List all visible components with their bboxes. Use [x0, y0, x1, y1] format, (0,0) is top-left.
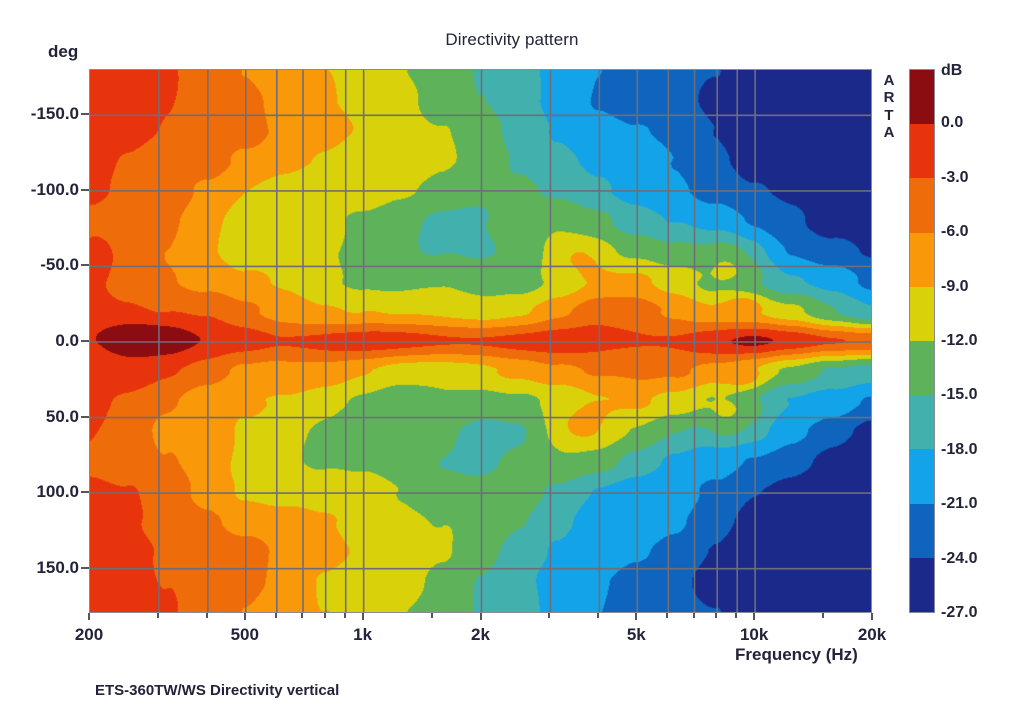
colorbar-tick-label: -3.0 [941, 169, 969, 187]
colorbar-swatch [910, 178, 934, 232]
y-tick-label: -150.0 [31, 104, 79, 124]
x-tick-label: 2k [471, 625, 490, 645]
colorbar-swatch [910, 70, 934, 124]
colorbar-tick-label: -18.0 [941, 441, 977, 459]
x-tick-mark [871, 613, 873, 620]
x-tick-mark [480, 613, 482, 620]
y-tick-label: 0.0 [55, 331, 79, 351]
colorbar-tick-labels: 0.0-3.0-6.0-9.0-12.0-15.0-18.0-21.0-24.0… [941, 69, 1021, 613]
x-tick-mark-minor [666, 613, 668, 618]
x-tick-mark-minor [597, 613, 599, 618]
colorbar-tick-label: -6.0 [941, 223, 969, 241]
y-axis: -150.0-100.0-50.00.050.0100.0150.0 [0, 69, 89, 613]
x-tick-mark [362, 613, 364, 620]
x-tick-mark-minor [324, 613, 326, 618]
x-tick-label: 1k [353, 625, 372, 645]
x-tick-label: 20k [858, 625, 886, 645]
y-tick-label: 100.0 [36, 482, 79, 502]
x-tick-label: 500 [231, 625, 259, 645]
y-tick-label: -50.0 [40, 255, 79, 275]
colorbar-tick-label: -15.0 [941, 386, 977, 404]
y-tick-mark [81, 113, 89, 115]
y-tick-label: 50.0 [46, 407, 79, 427]
x-tick-mark-minor [693, 613, 695, 618]
colorbar-tick-label: -9.0 [941, 278, 969, 296]
x-tick-mark-minor [822, 613, 824, 618]
colorbar-swatch [910, 449, 934, 503]
y-tick-mark [81, 340, 89, 342]
x-tick-mark-minor [275, 613, 277, 618]
colorbar-swatch [910, 395, 934, 449]
y-tick-mark [81, 264, 89, 266]
colorbar-tick-label: -27.0 [941, 604, 977, 622]
y-tick-mark [81, 491, 89, 493]
chart-caption: ETS-360TW/WS Directivity vertical [95, 682, 339, 699]
y-axis-unit-label: deg [48, 42, 78, 62]
x-tick-mark-minor [301, 613, 303, 618]
x-tick-mark-minor [206, 613, 208, 618]
y-tick-label: 150.0 [36, 558, 79, 578]
arta-letter: R [880, 89, 898, 106]
x-axis-title: Frequency (Hz) [735, 645, 858, 665]
colorbar-tick-label: 0.0 [941, 114, 963, 132]
x-tick-label: 200 [75, 625, 103, 645]
colorbar-swatch [910, 233, 934, 287]
colorbar-tick-label: -12.0 [941, 332, 977, 350]
heatmap-plot-area[interactable] [89, 69, 872, 613]
directivity-heatmap [90, 70, 871, 612]
y-tick-mark [81, 567, 89, 569]
colorbar-swatch [910, 558, 934, 612]
colorbar-tick-label: -24.0 [941, 550, 977, 568]
x-tick-mark [244, 613, 246, 620]
colorbar-swatch [910, 341, 934, 395]
chart-root: Directivity pattern deg ARTA dB 0.0-3.0-… [0, 0, 1024, 715]
x-tick-mark [635, 613, 637, 620]
x-tick-mark [753, 613, 755, 620]
x-tick-mark-minor [431, 613, 433, 618]
arta-letter: A [880, 72, 898, 89]
x-tick-label: 10k [740, 625, 768, 645]
x-tick-label: 5k [627, 625, 646, 645]
colorbar-swatch [910, 124, 934, 178]
colorbar-swatch [910, 287, 934, 341]
arta-letter: A [880, 124, 898, 141]
colorbar-scale [909, 69, 935, 613]
arta-watermark: ARTA [880, 72, 898, 141]
x-tick-mark-minor [157, 613, 159, 618]
x-tick-mark-minor [715, 613, 717, 618]
arta-letter: T [880, 107, 898, 124]
x-tick-mark [88, 613, 90, 620]
x-tick-mark-minor [548, 613, 550, 618]
x-tick-mark-minor [344, 613, 346, 618]
y-tick-mark [81, 189, 89, 191]
y-tick-label: -100.0 [31, 180, 79, 200]
x-tick-mark-minor [735, 613, 737, 618]
colorbar-swatch [910, 504, 934, 558]
colorbar-tick-label: -21.0 [941, 495, 977, 513]
y-tick-mark [81, 416, 89, 418]
page-title: Directivity pattern [0, 30, 1024, 50]
